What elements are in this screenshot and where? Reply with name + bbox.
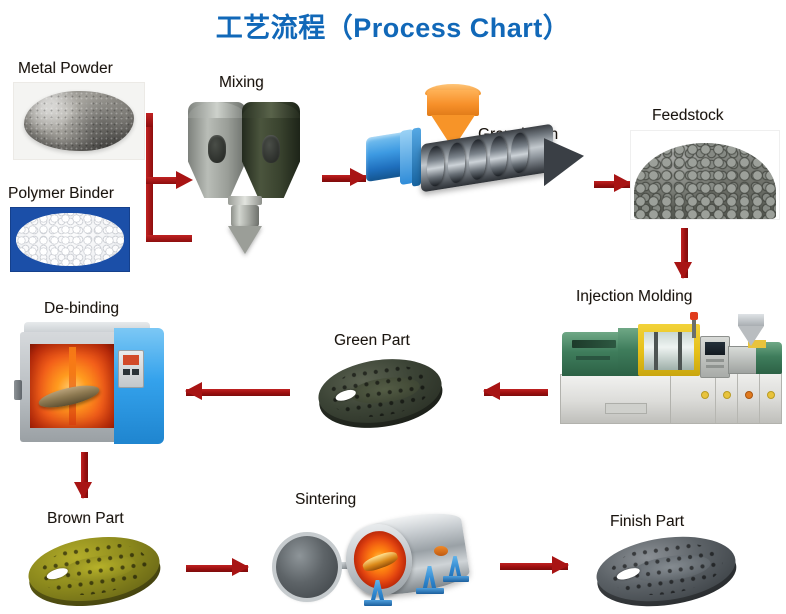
screw-flight xyxy=(511,132,528,174)
furnace-control-panel[interactable] xyxy=(118,350,144,388)
powder-grain-texture xyxy=(24,91,133,152)
mixer-hopper-right-port xyxy=(262,135,281,164)
screw-flight xyxy=(490,135,507,177)
arrow-head xyxy=(674,262,692,279)
arrow-brown-part-to-sintering xyxy=(186,562,248,574)
imm-door-knob xyxy=(745,391,753,399)
imm-door-knob xyxy=(701,391,709,399)
label-injection-molding: Injection Molding xyxy=(576,288,692,306)
screw-flight xyxy=(469,138,486,180)
imm-tie-bar xyxy=(654,332,658,370)
imm-control-panel[interactable] xyxy=(700,336,730,378)
furnace-door-handle[interactable] xyxy=(14,380,22,400)
merge-output-shaft xyxy=(146,177,178,184)
imm-safety-guard xyxy=(638,324,700,376)
screw-flight xyxy=(448,142,465,184)
sintering-foot xyxy=(364,600,392,606)
feedstock-granule-texture xyxy=(634,143,776,219)
finish-part-graphic xyxy=(592,529,739,610)
mixing-machine-graphic xyxy=(186,96,308,256)
arrow-head xyxy=(614,174,631,192)
sintering-port-knob xyxy=(434,546,448,556)
imm-hopper-top xyxy=(738,314,764,326)
imm-base-vent xyxy=(605,403,647,414)
imm-guard-window xyxy=(644,332,694,370)
mixer-hopper-left xyxy=(188,102,246,198)
arrow-head xyxy=(74,482,92,499)
label-brown-part: Brown Part xyxy=(47,510,124,528)
label-feedstock: Feedstock xyxy=(652,107,724,125)
imm-control-keys xyxy=(706,359,724,362)
furnace-panel-button[interactable] xyxy=(123,369,130,375)
imm-control-screen xyxy=(705,342,725,355)
imm-control-keys xyxy=(706,365,724,368)
imm-label-strip xyxy=(576,356,610,360)
feedstock-pile-shape xyxy=(634,143,776,219)
sintering-furnace-graphic xyxy=(262,500,472,609)
merge-powder-stub xyxy=(146,113,153,127)
furnace-panel-button[interactable] xyxy=(132,369,139,375)
label-finish-part: Finish Part xyxy=(610,513,684,531)
arrow-sintering-to-finish-part xyxy=(500,560,568,572)
label-green-part: Green Part xyxy=(334,332,410,350)
arrow-mixing-to-granulation xyxy=(322,172,366,184)
granulation-machine-graphic xyxy=(366,78,588,206)
imm-logo-strip xyxy=(572,340,616,348)
arrow-head xyxy=(552,556,569,574)
arrow-green-part-to-de-binding xyxy=(186,386,290,398)
arrow-head xyxy=(483,382,500,400)
mixer-hopper-right xyxy=(242,102,300,198)
imm-clamp-link xyxy=(618,328,640,376)
green-part-graphic xyxy=(314,352,445,431)
page-title: 工艺流程（Process Chart） xyxy=(0,6,786,45)
screw-flight xyxy=(427,145,444,187)
arrow-head xyxy=(232,558,249,576)
powder-pile-shape xyxy=(24,91,133,152)
furnace-hot-chamber xyxy=(30,344,114,428)
binder-pellet-texture xyxy=(16,213,125,266)
furnace-panel-indicator xyxy=(123,355,139,365)
mixer-collar xyxy=(228,196,262,205)
imm-tie-bar xyxy=(678,332,682,370)
label-de-binding: De-binding xyxy=(44,300,119,318)
sintering-door[interactable] xyxy=(276,536,338,598)
imm-signal-light xyxy=(690,312,698,320)
imm-base-left xyxy=(560,374,680,424)
arrow-head xyxy=(185,382,202,400)
sintering-charge xyxy=(361,549,400,573)
sintering-foot xyxy=(416,588,444,594)
granulator-motor-housing xyxy=(366,132,404,182)
brown-part-graphic xyxy=(24,529,163,609)
injection-molding-machine-graphic xyxy=(552,310,784,428)
arrow-de-binding-to-brown-part xyxy=(78,452,90,498)
imm-hopper-cone xyxy=(738,326,764,346)
granulator-flange xyxy=(412,127,421,186)
granulator-hopper-top xyxy=(427,90,479,116)
metal-powder-image xyxy=(13,82,145,160)
de-binding-furnace-graphic xyxy=(14,322,172,444)
sintering-foot xyxy=(443,576,469,582)
process-chart-canvas: 工艺流程（Process Chart） Metal Powder Polymer… xyxy=(0,0,786,609)
granulator-die-tip xyxy=(544,132,584,186)
arrow-granulation-to-feedstock xyxy=(594,178,630,190)
arrow-head xyxy=(350,168,367,186)
arrow-injection-molding-to-green-part xyxy=(484,386,548,398)
label-metal-powder: Metal Powder xyxy=(18,60,113,78)
label-mixing: Mixing xyxy=(219,74,264,92)
mixer-nozzle-body xyxy=(231,205,259,227)
binder-pellet-pile-shape xyxy=(16,213,125,266)
imm-door-knob xyxy=(767,391,775,399)
imm-door-knob xyxy=(723,391,731,399)
feedstock-image xyxy=(630,130,780,220)
mixer-nozzle-tip xyxy=(228,226,262,254)
arrow-feedstock-to-injection-molding xyxy=(678,228,690,278)
mixer-hopper-left-port xyxy=(208,135,227,164)
label-polymer-binder: Polymer Binder xyxy=(8,185,114,203)
polymer-binder-image xyxy=(10,207,130,272)
